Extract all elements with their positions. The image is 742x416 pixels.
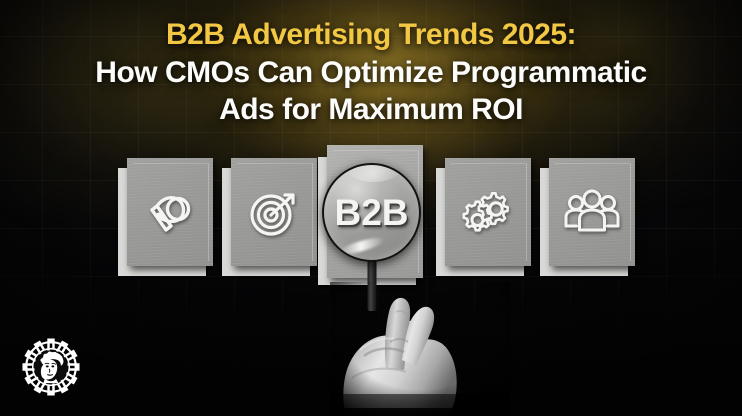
card-face (127, 158, 213, 266)
page-title: B2B Advertising Trends 2025: How CMOs Ca… (0, 20, 742, 132)
magnifier-lens: B2B (322, 163, 421, 262)
card-gears[interactable] (436, 158, 536, 276)
megaphone-icon (127, 158, 213, 266)
banner-root: B2B Advertising Trends 2025: How CMOs Ca… (0, 0, 742, 416)
card-face (549, 158, 635, 266)
title-line-two: How CMOs Can Optimize Programmatic (0, 58, 742, 88)
card-face (445, 158, 531, 266)
greek-meander-medallion-logo[interactable] (20, 336, 82, 398)
target-arrow-icon (231, 158, 317, 266)
card-target[interactable] (222, 158, 322, 276)
people-group-icon (549, 158, 635, 266)
title-line-three: Ads for Maximum ROI (0, 95, 742, 125)
gears-icon (445, 158, 531, 266)
title-line-accent: B2B Advertising Trends 2025: (0, 20, 742, 50)
card-megaphone[interactable] (118, 158, 218, 276)
card-people[interactable] (540, 158, 640, 276)
hand-holding-magnifier (330, 282, 510, 416)
magnifier-label: B2B (324, 165, 419, 260)
card-face (231, 158, 317, 266)
